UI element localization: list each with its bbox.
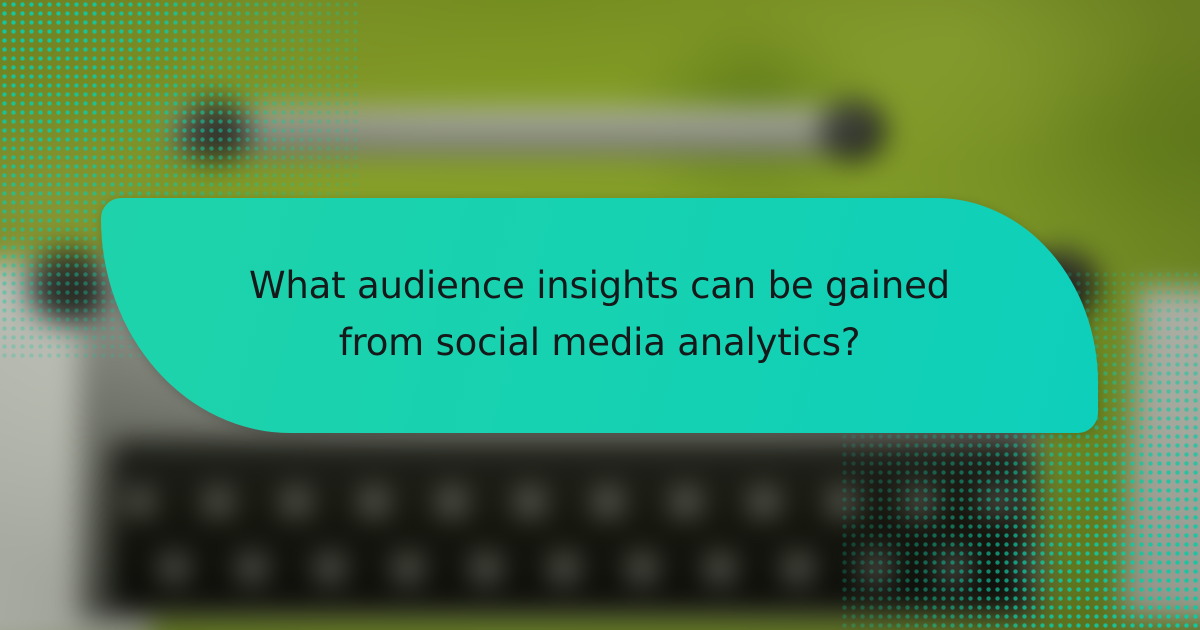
question-text: What audience insights can be gained fro… — [220, 257, 980, 375]
screenshot-canvas: What audience insights can be gained fro… — [0, 0, 1200, 630]
question-banner: What audience insights can be gained fro… — [101, 198, 1098, 433]
